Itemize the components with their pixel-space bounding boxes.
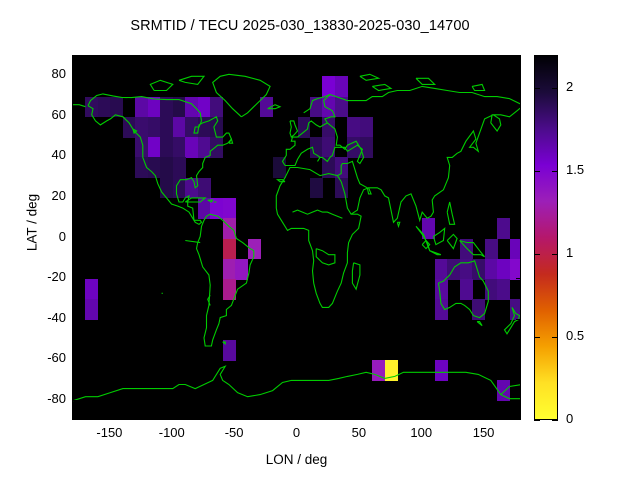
- coastline-path: [293, 210, 343, 218]
- coastline-path: [433, 228, 444, 244]
- y-axis-tick-label: 20: [18, 188, 66, 203]
- coastline-path: [179, 76, 204, 84]
- coastline-path: [197, 214, 254, 346]
- coastline-path: [290, 121, 298, 137]
- coastline-path: [150, 80, 173, 90]
- coastline-path: [88, 94, 231, 224]
- x-axis-tick-label: -100: [142, 425, 202, 440]
- colorbar-tick: [552, 337, 558, 338]
- y-axis-tick: [516, 319, 521, 320]
- coastline-path: [223, 342, 226, 344]
- colorbar-tick: [552, 420, 558, 421]
- y-axis-tick-label: 60: [18, 107, 66, 122]
- y-axis-tick: [72, 156, 77, 157]
- y-axis-tick: [516, 359, 521, 360]
- y-axis-tick: [516, 400, 521, 401]
- x-axis-tick: [172, 55, 173, 60]
- coastline-path: [447, 202, 454, 224]
- y-axis-tick: [72, 238, 77, 239]
- y-axis-tick-label: -20: [18, 269, 66, 284]
- map-plot-area: [72, 55, 521, 420]
- coastline-path: [416, 78, 435, 84]
- coastline-path: [73, 366, 521, 400]
- coastline-path: [213, 74, 270, 117]
- x-axis-tick-label: 150: [454, 425, 514, 440]
- colorbar: [534, 55, 558, 420]
- coastline-path: [268, 105, 280, 109]
- coastline-path: [276, 168, 361, 308]
- x-axis-tick-label: -50: [204, 425, 264, 440]
- colorbar-tick-label: 1.5: [566, 162, 584, 177]
- y-axis-tick-label: -80: [18, 391, 66, 406]
- chart-root: SRMTID / TECU 2025-030_13830-2025-030_14…: [0, 0, 640, 480]
- x-axis-tick: [297, 415, 298, 420]
- coastline-path: [501, 385, 521, 395]
- colorbar-tick: [552, 171, 558, 172]
- coastline-path: [477, 322, 482, 326]
- y-axis-tick: [72, 75, 77, 76]
- x-axis-tick: [359, 415, 360, 420]
- coastline-path: [337, 161, 371, 214]
- x-axis-tick: [421, 415, 422, 420]
- colorbar-tick: [552, 88, 558, 89]
- y-axis-tick-label: -40: [18, 310, 66, 325]
- x-axis-tick: [359, 55, 360, 60]
- coastline-path: [472, 84, 485, 90]
- x-axis-tick-label: 100: [391, 425, 451, 440]
- coastline-path: [460, 241, 485, 257]
- y-axis-tick: [516, 278, 521, 279]
- coastline-path: [438, 261, 488, 318]
- coastline-path: [372, 84, 391, 90]
- y-axis-tick: [72, 197, 77, 198]
- x-axis-tick: [172, 415, 173, 420]
- coastline-path: [283, 121, 328, 166]
- coastline-path: [304, 95, 330, 113]
- y-axis-tick: [72, 400, 77, 401]
- y-axis-tick: [516, 156, 521, 157]
- y-axis-tick-label: 0: [18, 229, 66, 244]
- x-axis-tick: [421, 55, 422, 60]
- x-axis-tick-label: 0: [267, 425, 327, 440]
- x-axis-tick-label: 50: [329, 425, 389, 440]
- y-axis-tick: [516, 75, 521, 76]
- coastline-path: [360, 74, 379, 80]
- coastline-path: [397, 222, 400, 226]
- x-axis-tick: [297, 55, 298, 60]
- y-axis-tick-label: -60: [18, 350, 66, 365]
- x-axis-tick: [484, 415, 485, 420]
- x-axis-tick-label: -150: [79, 425, 139, 440]
- colorbar-tick: [552, 254, 558, 255]
- colorbar-tick: [534, 171, 540, 172]
- y-axis-tick: [72, 359, 77, 360]
- y-axis-title: LAT / deg: [25, 163, 40, 283]
- y-axis-tick: [516, 238, 521, 239]
- coastline-path: [352, 263, 360, 289]
- colorbar-tick: [534, 88, 540, 89]
- colorbar-tick: [534, 254, 540, 255]
- x-axis-tick: [109, 55, 110, 60]
- coastline-path: [416, 226, 441, 254]
- coastline-path: [505, 307, 520, 333]
- coastline-path: [208, 200, 213, 202]
- coastline-path: [73, 105, 86, 107]
- coastline-path: [316, 249, 335, 265]
- coastline-path: [447, 234, 457, 248]
- x-axis-tick: [484, 55, 485, 60]
- x-axis-tick: [234, 415, 235, 420]
- y-axis-tick-label: 40: [18, 147, 66, 162]
- coastline-path: [369, 107, 521, 223]
- colorbar-tick-label: 1: [566, 245, 573, 260]
- colorbar-tick-label: 0: [566, 411, 573, 426]
- colorbar-tick: [534, 420, 540, 421]
- x-axis-title: LON / deg: [72, 452, 521, 467]
- chart-title: SRMTID / TECU 2025-030_13830-2025-030_14…: [0, 18, 600, 34]
- colorbar-tick-label: 0.5: [566, 328, 584, 343]
- y-axis-tick: [516, 197, 521, 198]
- colorbar-tick-label: 2: [566, 79, 573, 94]
- coastline-layer: [73, 56, 521, 420]
- colorbar-tick: [534, 337, 540, 338]
- y-axis-tick: [516, 116, 521, 117]
- y-axis-tick-label: 80: [18, 66, 66, 81]
- y-axis-tick: [72, 278, 77, 279]
- y-axis-tick: [72, 319, 77, 320]
- x-axis-tick: [109, 415, 110, 420]
- y-axis-tick: [72, 116, 77, 117]
- x-axis-tick: [234, 55, 235, 60]
